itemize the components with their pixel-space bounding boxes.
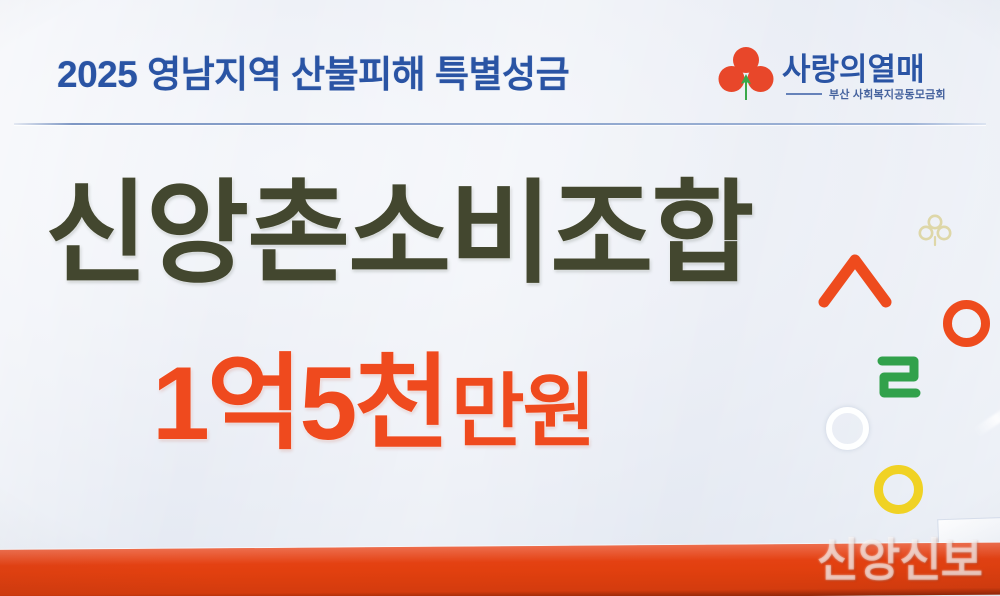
banner-photo: 2025 영남지역 산불피해 특별성금 사랑의열매 부산 사회복지공동모금회 신… [0, 0, 1000, 596]
jamo-ieung-red-icon [943, 300, 990, 347]
donation-amount-unit: 만원 [451, 367, 594, 456]
fruit-motif-gold-icon [917, 213, 953, 249]
jamo-ieung-white-icon [826, 407, 869, 450]
header-divider [14, 123, 986, 125]
jamo-ieung-yellow-icon [874, 465, 923, 514]
donor-organization-name: 신앙촌소비조합 [45, 178, 752, 290]
fruit-of-love-icon [718, 46, 774, 104]
banner-header: 2025 영남지역 산불피해 특별성금 사랑의열매 부산 사회복지공동모금회 [0, 0, 1000, 126]
logo-wordmark: 사랑의열매 [782, 44, 925, 89]
community-chest-logo: 사랑의열매 부산 사회복지공동모금회 [718, 42, 980, 112]
bottom-orange-band [0, 543, 1000, 596]
jamo-rieul-green-icon [875, 353, 923, 401]
band-shadow-edge [0, 588, 1000, 596]
campaign-title: 2025 영남지역 산불피해 특별성금 [57, 44, 569, 98]
logo-subtitle: 부산 사회복지공동모금회 [829, 86, 946, 102]
jamo-siot-icon [818, 252, 892, 308]
logo-subtitle-rule [786, 93, 822, 95]
donation-amount: 1억5천만원 [152, 352, 594, 456]
logo-subtitle-row: 부산 사회복지공동모금회 [786, 86, 946, 102]
donation-amount-main: 1억5천 [152, 346, 447, 462]
